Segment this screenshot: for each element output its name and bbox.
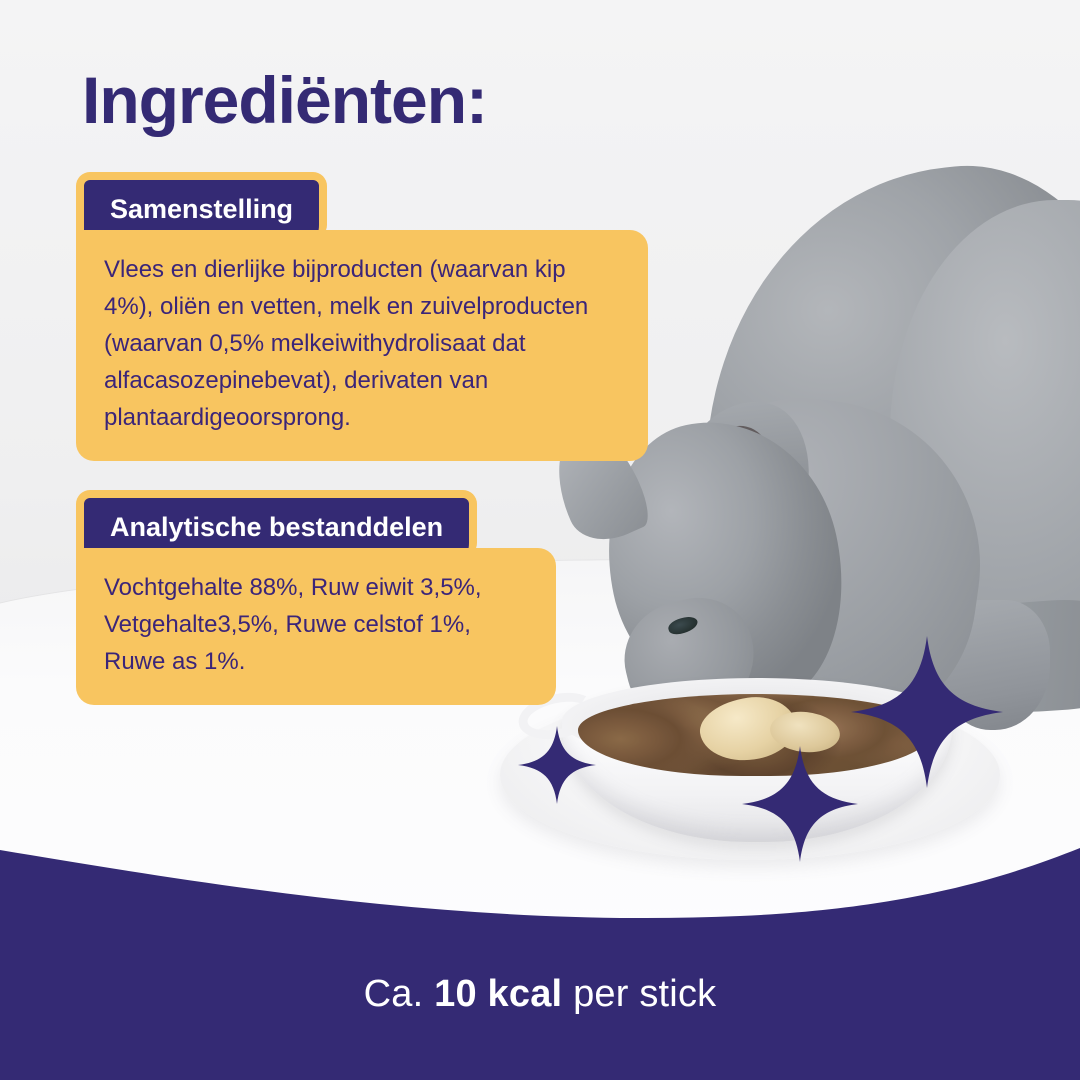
footer-wave bbox=[0, 810, 1080, 1080]
ingredients-card-analytische-bestanddelen: Analytische bestanddelen Vochtgehalte 88… bbox=[76, 490, 556, 705]
card-tab-wrap: Analytische bestanddelen bbox=[76, 490, 556, 556]
card-body-samenstelling: Vlees en dierlijke bijproducten (waarvan… bbox=[76, 230, 648, 461]
ingredients-card-samenstelling: Samenstelling Vlees en dierlijke bijprod… bbox=[76, 172, 648, 461]
kcal-statement: Ca. 10 kcal per stick bbox=[0, 973, 1080, 1016]
kcal-value: 10 kcal bbox=[434, 973, 562, 1015]
card-tab-label-analytische-bestanddelen: Analytische bestanddelen bbox=[76, 490, 477, 557]
poster-canvas: Ca. 10 kcal per stick Ingrediënten: Same… bbox=[0, 0, 1080, 1080]
sparkle-large-icon bbox=[851, 636, 1003, 788]
kcal-prefix: Ca. bbox=[364, 973, 435, 1015]
card-tab-wrap: Samenstelling bbox=[76, 172, 648, 238]
sparkle-medium-icon bbox=[742, 746, 858, 862]
sparkle-small-icon bbox=[518, 726, 596, 804]
card-body-analytische-bestanddelen: Vochtgehalte 88%, Ruw eiwit 3,5%, Vetgeh… bbox=[76, 548, 556, 705]
kcal-suffix: per stick bbox=[562, 973, 716, 1015]
card-tab-label-samenstelling: Samenstelling bbox=[76, 172, 327, 239]
page-title: Ingrediënten: bbox=[82, 62, 487, 138]
